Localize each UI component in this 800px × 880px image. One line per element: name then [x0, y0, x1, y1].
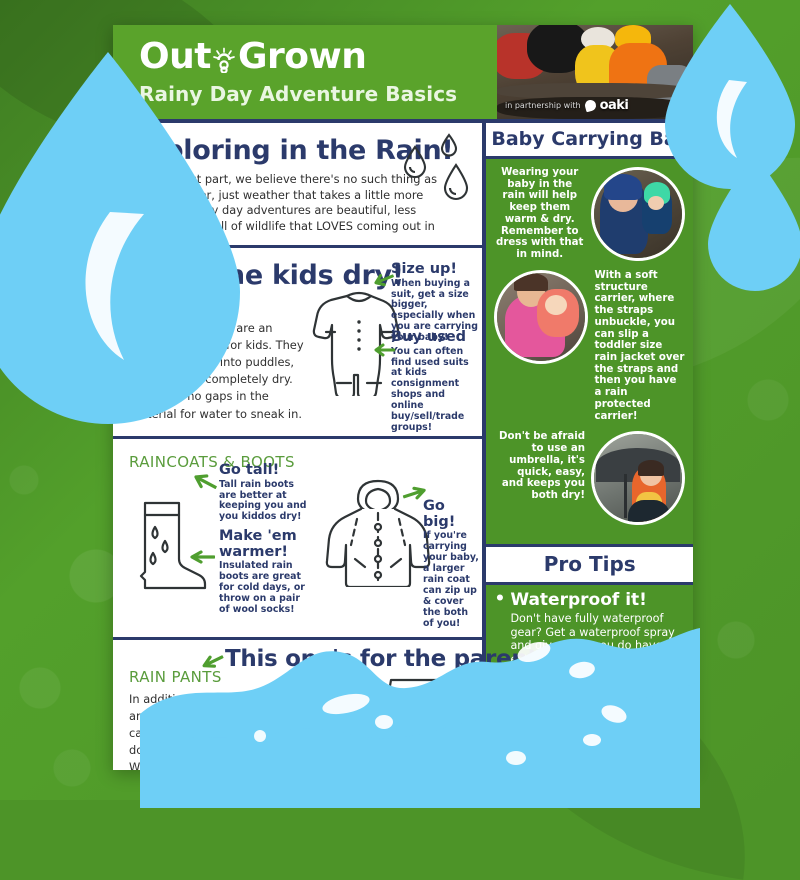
logo-text-out: Out: [139, 39, 211, 75]
logo: Out Grown: [139, 39, 497, 75]
baby-carrying-title-text: Baby Carrying Bas: [491, 128, 688, 150]
baby-block-text: Wearing your baby in the rain will help …: [494, 167, 585, 261]
arrow-icon: [186, 468, 220, 499]
pro-tips-content: • Waterproof it! Don't have fully waterp…: [486, 582, 693, 770]
rain-pants-paragraph: In addition to a rain coat and boots, ra…: [129, 691, 397, 770]
callout-heading: Make 'em warmer!: [219, 529, 311, 560]
callout-make-em-warmer: Make 'em warmer! Insulated rain boots ar…: [219, 529, 311, 616]
arrow-icon: [371, 342, 395, 361]
pro-tip-body: It's easy to focus on keeping your littl…: [494, 692, 685, 770]
photo-mother-with-baby-carrier: [591, 167, 685, 261]
partnership-text: in partnership with: [505, 101, 581, 110]
poster-header: Out Grown: [113, 25, 693, 119]
photo-figure: [648, 196, 664, 210]
pro-tip: • Keep Yourself Dry It's easy to focus o…: [494, 671, 685, 770]
logo-text-grown: Grown: [238, 39, 366, 75]
section-title-for-the-parents: This one's for the parents!: [225, 646, 562, 672]
partner-brand-name: oaki: [600, 98, 629, 113]
baby-block: Don't be afraid to use an umbrella, it's…: [494, 431, 685, 525]
rain-boot-illustration: [129, 497, 207, 597]
header-photo-kids-in-puddle: in partnership with oaki: [497, 25, 693, 119]
callout-body: Tall rain boots are better at keeping yo…: [219, 480, 309, 524]
baby-block-text: With a soft structure carrier, where the…: [594, 270, 685, 422]
raindrop-icon: [440, 133, 458, 161]
panel-raincoats-boots: RAINCOATS & BOOTS Go tal: [113, 439, 482, 640]
photo-figure: [638, 460, 664, 476]
raindrop-icon: [442, 163, 470, 205]
pro-tips-title-text: Pro Tips: [544, 552, 636, 576]
umbrella-handle: [624, 474, 627, 518]
callout-heading: Go big!: [423, 499, 481, 530]
pro-tip-heading-row: • Keep Yourself Dry: [494, 671, 685, 689]
callout-body: You can often find used suits at kids co…: [391, 347, 479, 434]
baby-carrying-content: Wearing your baby in the rain will help …: [486, 156, 693, 544]
photo-figure: [628, 500, 670, 522]
photo-figure: [604, 174, 642, 200]
poster-body: Exploring in the Rain! For the most part…: [113, 119, 693, 770]
bullet-icon: •: [494, 591, 505, 609]
baby-block: With a soft structure carrier, where the…: [494, 270, 685, 422]
pro-tip-heading: Keep Yourself Dry: [510, 671, 681, 689]
header-branding: Out Grown: [113, 25, 497, 119]
arrow-icon: [187, 549, 215, 568]
partnership-credit: in partnership with oaki: [505, 98, 628, 113]
header-tagline: Rainy Day Adventure Basics: [139, 82, 497, 106]
rain-pants-illustration: [385, 676, 457, 770]
photo-mother-carrying-baby-pink: [494, 270, 588, 364]
pro-tip-heading: Waterproof it!: [510, 591, 647, 609]
oaki-logo-icon: [583, 99, 596, 112]
photo-woman-with-umbrella: [591, 431, 685, 525]
baby-block-text: Don't be afraid to use an umbrella, it's…: [494, 431, 585, 525]
callout-heading: Size up!: [391, 262, 479, 278]
bullet-icon: •: [494, 671, 505, 689]
callout-body: Insulated rain boots are great for cold …: [219, 561, 311, 616]
callout-go-big: Go big! If you're carrying your baby, a …: [423, 499, 481, 629]
baby-block: Wearing your baby in the rain will help …: [494, 167, 685, 261]
photo-figure: [514, 273, 548, 291]
panel-rain-pants: This one's for the parents! RAIN PANTS I…: [113, 640, 482, 770]
section-title-pro-tips: Pro Tips: [486, 544, 693, 582]
right-column: Baby Carrying Bas Wearing your baby in t…: [482, 119, 693, 770]
section-title-baby-carrying: Baby Carrying Bas: [486, 123, 693, 156]
panel-exploring-in-the-rain: Exploring in the Rain! For the most part…: [113, 123, 482, 248]
rainsuits-paragraph: Full body rainsuits are an AMAZING optio…: [129, 320, 317, 423]
raindrop-icon: [402, 145, 428, 183]
callout-buy-used: Buy used You can often find used suits a…: [391, 330, 479, 434]
callout-go-tall: Go tall! Tall rain boots are better at k…: [219, 463, 309, 523]
callout-body: If you're carrying your baby, a larger r…: [423, 531, 481, 629]
panel-keep-kids-dry: Keep the kids dry! RAINSUITS Full body r…: [113, 248, 482, 439]
callout-heading: Go tall!: [219, 463, 309, 479]
left-column: Exploring in the Rain! For the most part…: [113, 119, 482, 770]
infographic-poster: Out Grown: [113, 25, 693, 770]
sun-sprout-icon: [211, 44, 237, 70]
callout-heading: Buy used: [391, 330, 479, 346]
pro-tip-heading-row: • Waterproof it!: [494, 591, 685, 609]
intro-paragraph: For the most part, we believe there's no…: [129, 172, 449, 251]
